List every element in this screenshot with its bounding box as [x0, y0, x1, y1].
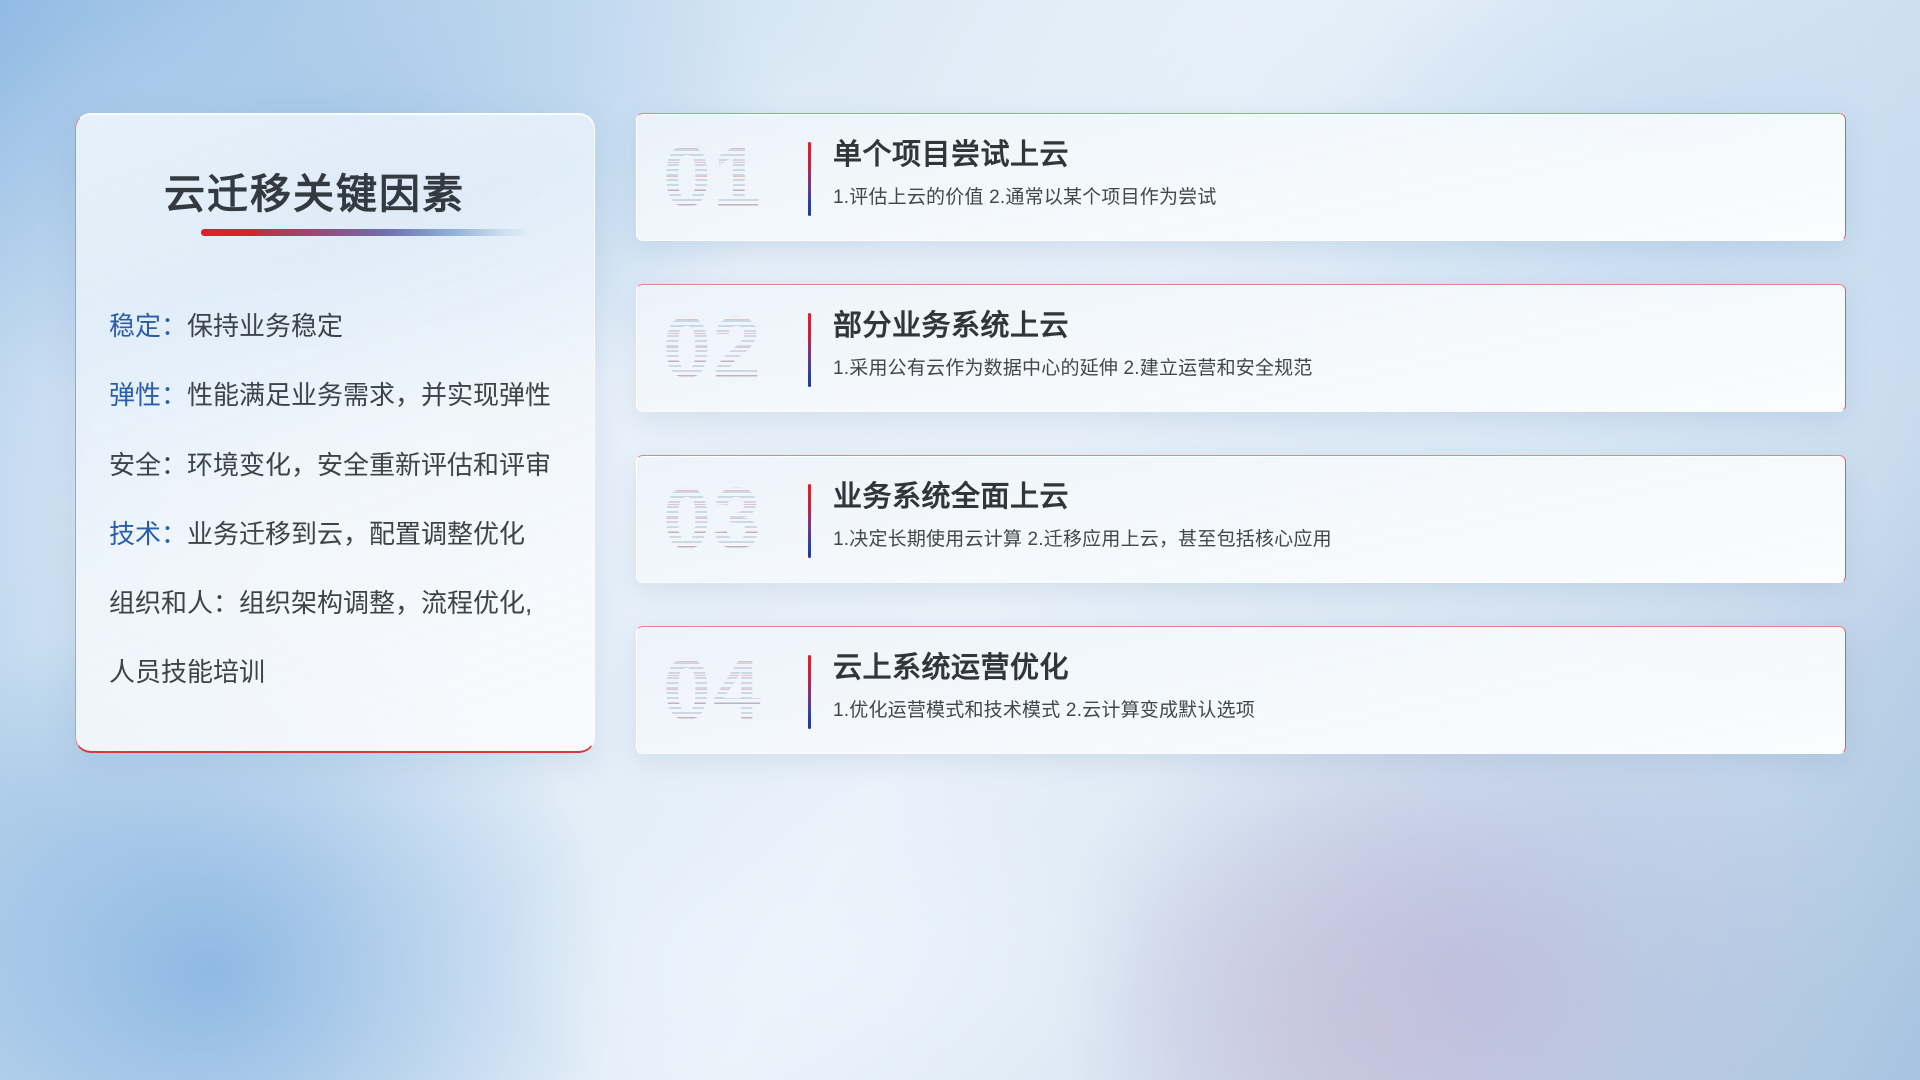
factor-label: 安全：	[109, 450, 187, 480]
card-accent-divider	[808, 313, 811, 387]
card-accent-divider	[808, 142, 811, 216]
card-description: 1.采用公有云作为数据中心的延伸 2.建立运营和安全规范	[833, 357, 1821, 382]
maturity-stage-card[interactable]: 0303业务系统全面上云1.决定长期使用云计算 2.迁移应用上云，甚至包括核心应…	[636, 455, 1846, 583]
maturity-stage-card[interactable]: 0404云上系统运营优化1.优化运营模式和技术模式 2.云计算变成默认选项	[636, 626, 1846, 754]
card-title: 部分业务系统上云	[833, 309, 1821, 344]
card-title: 业务系统全面上云	[833, 480, 1821, 515]
card-body: 部分业务系统上云1.采用公有云作为数据中心的延伸 2.建立运营和安全规范	[833, 309, 1821, 382]
factor-label: 技术：	[109, 519, 187, 549]
factor-row: 技术：业务迁移到云，配置调整优化	[109, 518, 570, 551]
card-body: 云上系统运营优化1.优化运营模式和技术模式 2.云计算变成默认选项	[833, 651, 1821, 724]
card-description: 1.决定长期使用云计算 2.迁移应用上云，甚至包括核心应用	[833, 528, 1821, 553]
factor-text: 人员技能培训	[109, 657, 265, 687]
maturity-stage-card[interactable]: 0202部分业务系统上云1.采用公有云作为数据中心的延伸 2.建立运营和安全规范	[636, 284, 1846, 412]
card-step-number-tint: 03	[663, 476, 763, 562]
card-step-number-tint: 01	[663, 134, 763, 220]
factor-text: 保持业务稳定	[187, 311, 343, 341]
title-underline-rule	[201, 229, 531, 236]
card-body: 业务系统全面上云1.决定长期使用云计算 2.迁移应用上云，甚至包括核心应用	[833, 480, 1821, 553]
factor-row: 组织和人：组织架构调整，流程优化,	[109, 587, 570, 620]
factor-row: 弹性：性能满足业务需求，并实现弹性	[109, 379, 570, 412]
slide-stage: 云迁移关键因素 稳定：保持业务稳定弹性：性能满足业务需求，并实现弹性安全：环境变…	[0, 0, 1920, 1080]
card-accent-divider	[808, 655, 811, 729]
factor-row: 稳定：保持业务稳定	[109, 310, 570, 343]
card-description: 1.评估上云的价值 2.通常以某个项目作为尝试	[833, 186, 1821, 211]
page-title: 云迁移关键因素	[164, 160, 465, 220]
factor-text: 环境变化，安全重新评估和评审	[187, 450, 551, 480]
factor-text: 性能满足业务需求，并实现弹性	[187, 380, 551, 410]
card-description: 1.优化运营模式和技术模式 2.云计算变成默认选项	[833, 699, 1821, 724]
factor-list: 稳定：保持业务稳定弹性：性能满足业务需求，并实现弹性安全：环境变化，安全重新评估…	[109, 310, 570, 690]
card-accent-divider	[808, 484, 811, 558]
card-body: 单个项目尝试上云1.评估上云的价值 2.通常以某个项目作为尝试	[833, 138, 1821, 211]
maturity-stage-card[interactable]: 0101单个项目尝试上云1.评估上云的价值 2.通常以某个项目作为尝试	[636, 113, 1846, 241]
card-title: 云上系统运营优化	[833, 651, 1821, 686]
factor-row: 人员技能培训	[109, 656, 570, 689]
factor-label: 组织和人：	[109, 588, 239, 618]
factor-text: 业务迁移到云，配置调整优化	[187, 519, 525, 549]
key-factors-panel: 云迁移关键因素 稳定：保持业务稳定弹性：性能满足业务需求，并实现弹性安全：环境变…	[75, 113, 595, 753]
factor-text: 组织架构调整，流程优化,	[239, 588, 532, 618]
factor-label: 弹性：	[109, 380, 187, 410]
card-step-number-tint: 02	[663, 305, 763, 391]
card-title: 单个项目尝试上云	[833, 138, 1821, 173]
factor-label: 稳定：	[109, 311, 187, 341]
card-step-number-tint: 04	[663, 647, 763, 733]
factor-row: 安全：环境变化，安全重新评估和评审	[109, 449, 570, 482]
maturity-stage-card-list: 0101单个项目尝试上云1.评估上云的价值 2.通常以某个项目作为尝试0202部…	[636, 113, 1846, 754]
